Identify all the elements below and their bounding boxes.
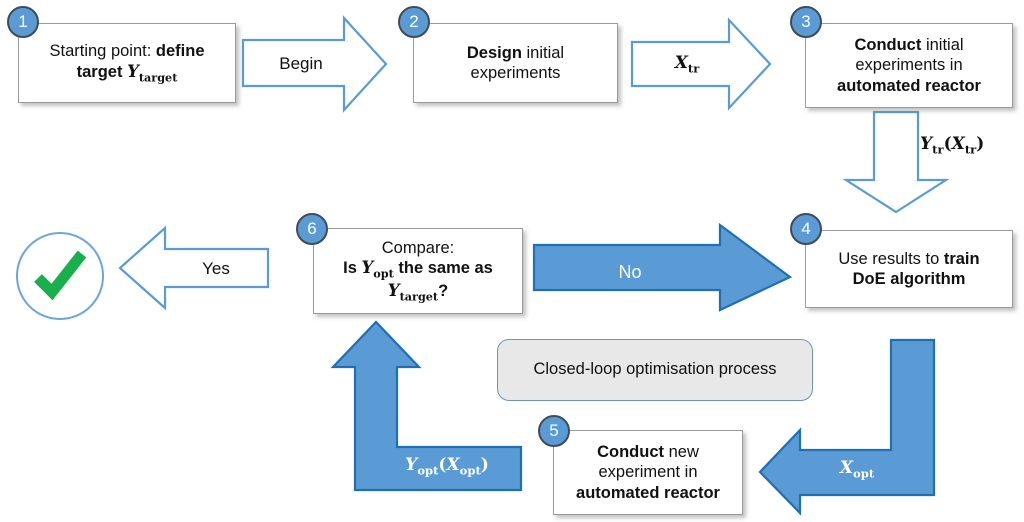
- step-box-4[interactable]: Use results to train DoE algorithm: [805, 230, 1013, 308]
- callout-line-1: Closed-loop optimisation: [533, 360, 714, 378]
- step-box-6[interactable]: Compare: Is Yopt the same as Ytarget?: [313, 228, 523, 314]
- step-4-line-2: DoE algorithm: [838, 269, 979, 289]
- step-3-line-1: Conduct initial: [837, 35, 981, 55]
- step-5-line-1: Conduct new: [576, 442, 720, 462]
- step-box-3[interactable]: Conduct initial experiments in automated…: [805, 23, 1013, 108]
- step-box-2[interactable]: Design initial experiments: [413, 23, 618, 103]
- arrow-begin-label: Begin: [258, 48, 344, 80]
- callout-line-2: process: [719, 360, 777, 378]
- arrow-xtr-label: Xtr: [645, 48, 729, 80]
- step-4-line-1: Use results to train: [838, 249, 979, 269]
- arrow-no-label: No: [570, 258, 690, 286]
- flowchart-canvas: Begin Xtr Ytr(Xtr) No Xopt Yopt(Xopt) Ye…: [0, 0, 1024, 522]
- step-badge-1-number: 1: [18, 12, 27, 32]
- step-box-1[interactable]: Starting point: define target Ytarget: [18, 23, 236, 103]
- step-badge-4: 4: [790, 213, 822, 245]
- step-badge-6: 6: [296, 213, 328, 245]
- step-6-line-2: Is Yopt the same as: [343, 258, 493, 281]
- arrow-yopt-label: Yopt(Xopt): [372, 452, 522, 480]
- step-badge-6-number: 6: [307, 219, 316, 239]
- step-badge-1: 1: [7, 6, 39, 38]
- step-box-5[interactable]: Conduct new experiment in automated reac…: [553, 430, 743, 515]
- step-2-line-2: experiments: [467, 63, 564, 83]
- step-1-line-1: Starting point: define: [50, 41, 205, 61]
- arrow-xopt-label: Xopt: [812, 455, 902, 483]
- arrow-ytr-shape: [846, 112, 946, 212]
- step-6-line-1: Compare:: [343, 238, 493, 258]
- step-badge-2-number: 2: [409, 12, 418, 32]
- step-badge-5-number: 5: [549, 421, 558, 441]
- step-2-line-1: Design initial: [467, 43, 564, 63]
- arrow-yes-label: Yes: [170, 254, 262, 284]
- step-3-line-3: automated reactor: [837, 76, 981, 96]
- arrow-ytr-label: Ytr(Xtr): [920, 132, 1020, 158]
- step-badge-3: 3: [790, 6, 822, 38]
- step-3-line-2: experiments in: [837, 55, 981, 75]
- step-6-line-3: Ytarget?: [343, 281, 493, 304]
- closed-loop-callout: Closed-loop optimisation process: [497, 339, 813, 401]
- step-badge-2: 2: [398, 6, 430, 38]
- success-circle: [16, 232, 104, 320]
- step-5-line-3: automated reactor: [576, 483, 720, 503]
- check-icon: [18, 234, 102, 318]
- step-badge-4-number: 4: [801, 219, 810, 239]
- step-1-line-2: target Ytarget: [50, 62, 205, 85]
- step-badge-3-number: 3: [801, 12, 810, 32]
- step-5-line-2: experiment in: [576, 462, 720, 482]
- step-badge-5: 5: [538, 415, 570, 447]
